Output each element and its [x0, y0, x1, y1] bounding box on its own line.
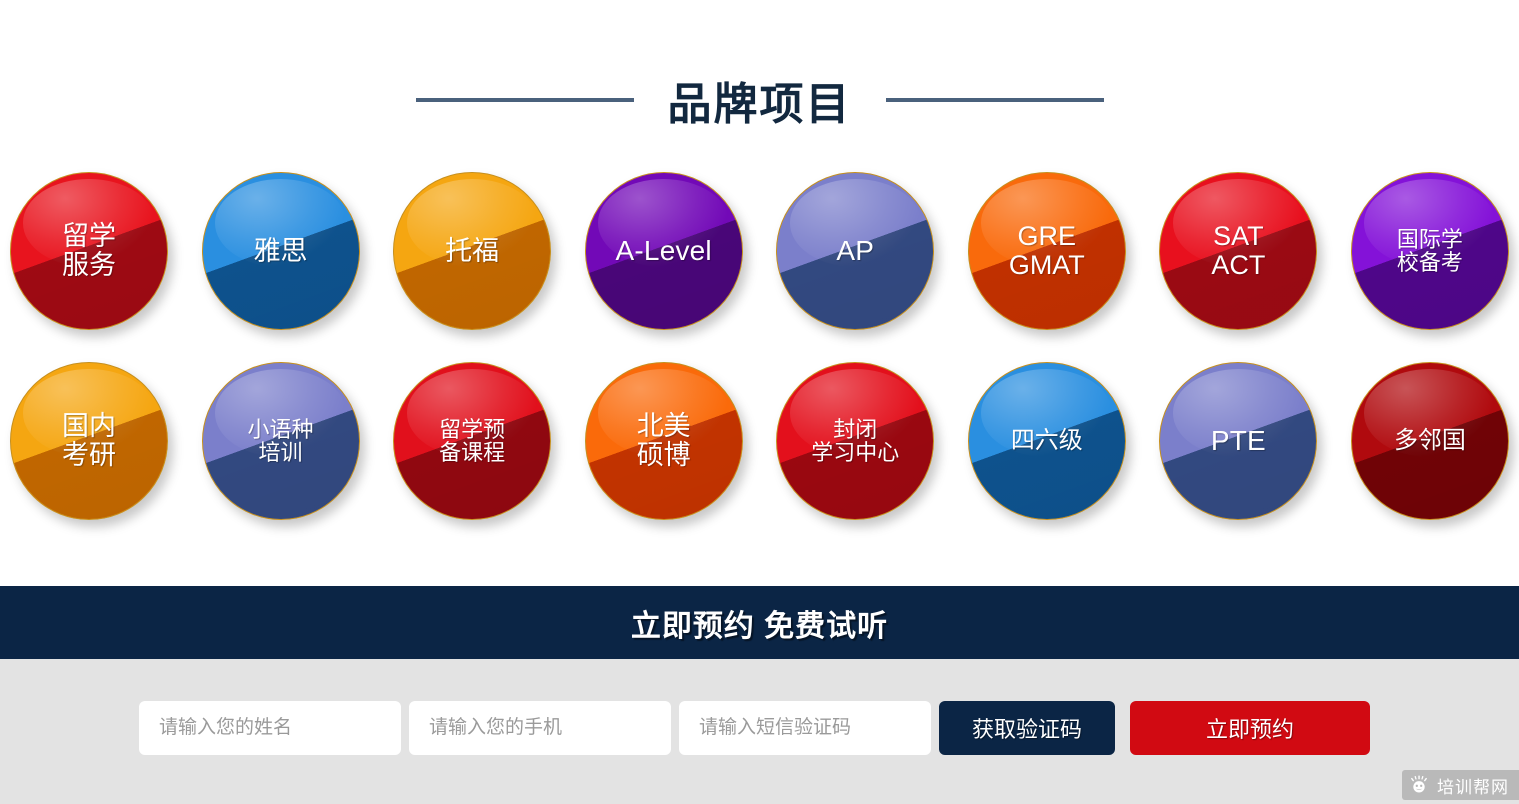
heading-rule-right — [886, 98, 1104, 102]
program-bubble-grid: 留学 服务雅思托福A-LevelAPGRE GMATSAT ACT国际学 校备考… — [0, 172, 1519, 554]
program-bubble[interactable]: 小语种 培训 — [202, 362, 360, 520]
program-bubble[interactable]: GRE GMAT — [968, 172, 1126, 330]
sms-code-input[interactable] — [679, 701, 931, 755]
program-row-2: 国内 考研小语种 培训留学预 备课程北美 硕博封闭 学习中心四六级PTE多邻国 — [0, 362, 1519, 544]
program-bubble[interactable]: 留学预 备课程 — [393, 362, 551, 520]
program-bubble-label: GRE GMAT — [1003, 222, 1091, 279]
program-bubble[interactable]: 多邻国 — [1351, 362, 1509, 520]
program-bubble-label: 封闭 学习中心 — [805, 418, 905, 465]
site-watermark: 培训帮网 — [1402, 770, 1519, 800]
watermark-label: 培训帮网 — [1437, 773, 1509, 798]
get-code-button[interactable]: 获取验证码 — [939, 701, 1115, 755]
program-bubble[interactable]: 国内 考研 — [10, 362, 168, 520]
program-bubble[interactable]: 四六级 — [968, 362, 1126, 520]
program-bubble-label: AP — [830, 236, 880, 266]
program-bubble-label: 留学 服务 — [56, 222, 122, 279]
program-bubble-label: 四六级 — [1005, 428, 1089, 453]
program-bubble-label: A-Level — [610, 236, 718, 266]
sun-face-icon — [1408, 774, 1430, 796]
brand-programs-page: 品牌项目 留学 服务雅思托福A-LevelAPGRE GMATSAT ACT国际… — [0, 0, 1519, 804]
program-bubble[interactable]: 留学 服务 — [10, 172, 168, 330]
booking-form: 获取验证码 立即预约 — [139, 701, 1370, 755]
program-bubble[interactable]: 托福 — [393, 172, 551, 330]
program-bubble-label: 国际学 校备考 — [1391, 228, 1469, 275]
program-bubble[interactable]: PTE — [1159, 362, 1317, 520]
program-row-1: 留学 服务雅思托福A-LevelAPGRE GMATSAT ACT国际学 校备考 — [0, 172, 1519, 354]
name-input[interactable] — [139, 701, 401, 755]
program-bubble[interactable]: SAT ACT — [1159, 172, 1317, 330]
program-bubble-label: 托福 — [439, 237, 505, 266]
heading-rule-left — [416, 98, 634, 102]
program-bubble-label: SAT ACT — [1205, 222, 1271, 279]
program-bubble[interactable]: 国际学 校备考 — [1351, 172, 1509, 330]
program-bubble-label: 小语种 培训 — [242, 418, 320, 465]
program-bubble-label: 留学预 备课程 — [433, 418, 511, 465]
program-bubble-label: 北美 硕博 — [631, 412, 697, 469]
program-bubble-label: 国内 考研 — [56, 412, 122, 469]
program-bubble[interactable]: 雅思 — [202, 172, 360, 330]
page-title-block: 品牌项目 — [0, 60, 1519, 140]
cta-banner: 立即预约 免费试听 — [0, 586, 1519, 659]
booking-form-strip: 获取验证码 立即预约 — [0, 659, 1519, 804]
program-bubble[interactable]: 封闭 学习中心 — [776, 362, 934, 520]
program-bubble[interactable]: A-Level — [585, 172, 743, 330]
program-bubble-label: PTE — [1205, 426, 1272, 456]
page-title: 品牌项目 — [668, 68, 852, 132]
program-bubble-label: 雅思 — [248, 237, 314, 266]
submit-booking-button[interactable]: 立即预约 — [1130, 701, 1370, 755]
phone-input[interactable] — [409, 701, 671, 755]
program-bubble[interactable]: AP — [776, 172, 934, 330]
cta-banner-text: 立即预约 免费试听 — [631, 601, 888, 645]
program-bubble-label: 多邻国 — [1388, 428, 1472, 453]
program-bubble[interactable]: 北美 硕博 — [585, 362, 743, 520]
